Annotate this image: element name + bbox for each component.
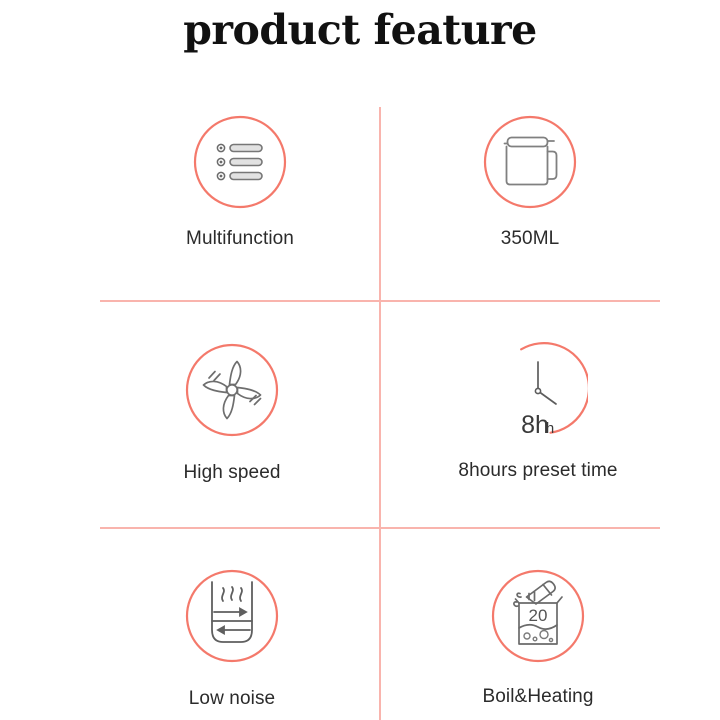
feature-label: Multifunction	[90, 228, 390, 250]
feature-cell-low-noise: Low noise	[82, 566, 382, 710]
pot-number-text: 20	[529, 606, 548, 625]
cup-circulation-icon	[182, 566, 282, 666]
feature-cell-high-speed: High speed	[82, 340, 382, 484]
boil-pot-icon: 20	[488, 566, 588, 666]
feature-cell-multifunction: Multifunction	[90, 112, 390, 250]
kettle-icon	[480, 112, 580, 212]
feature-label: 350ML	[380, 228, 680, 250]
fan-blade-icon	[182, 340, 282, 440]
page-title: product feature	[0, 4, 720, 56]
list-multifunction-icon	[190, 112, 290, 212]
clock-hours-text: 8h	[521, 411, 549, 439]
feature-label: Boil&Heating	[388, 686, 688, 708]
feature-label: High speed	[82, 462, 382, 484]
feature-label: Low noise	[82, 688, 382, 710]
clock-8h-icon: 8h h	[488, 340, 588, 440]
feature-cell-capacity: 350ML	[380, 112, 680, 250]
feature-cell-preset-time: 8h h 8hours preset time	[388, 340, 688, 482]
feature-cell-boil-heating: 20 Boil&Heating	[388, 566, 688, 708]
product-feature-infographic: product feature	[0, 0, 720, 720]
svg-text:h: h	[546, 420, 554, 437]
feature-label: 8hours preset time	[388, 460, 688, 482]
